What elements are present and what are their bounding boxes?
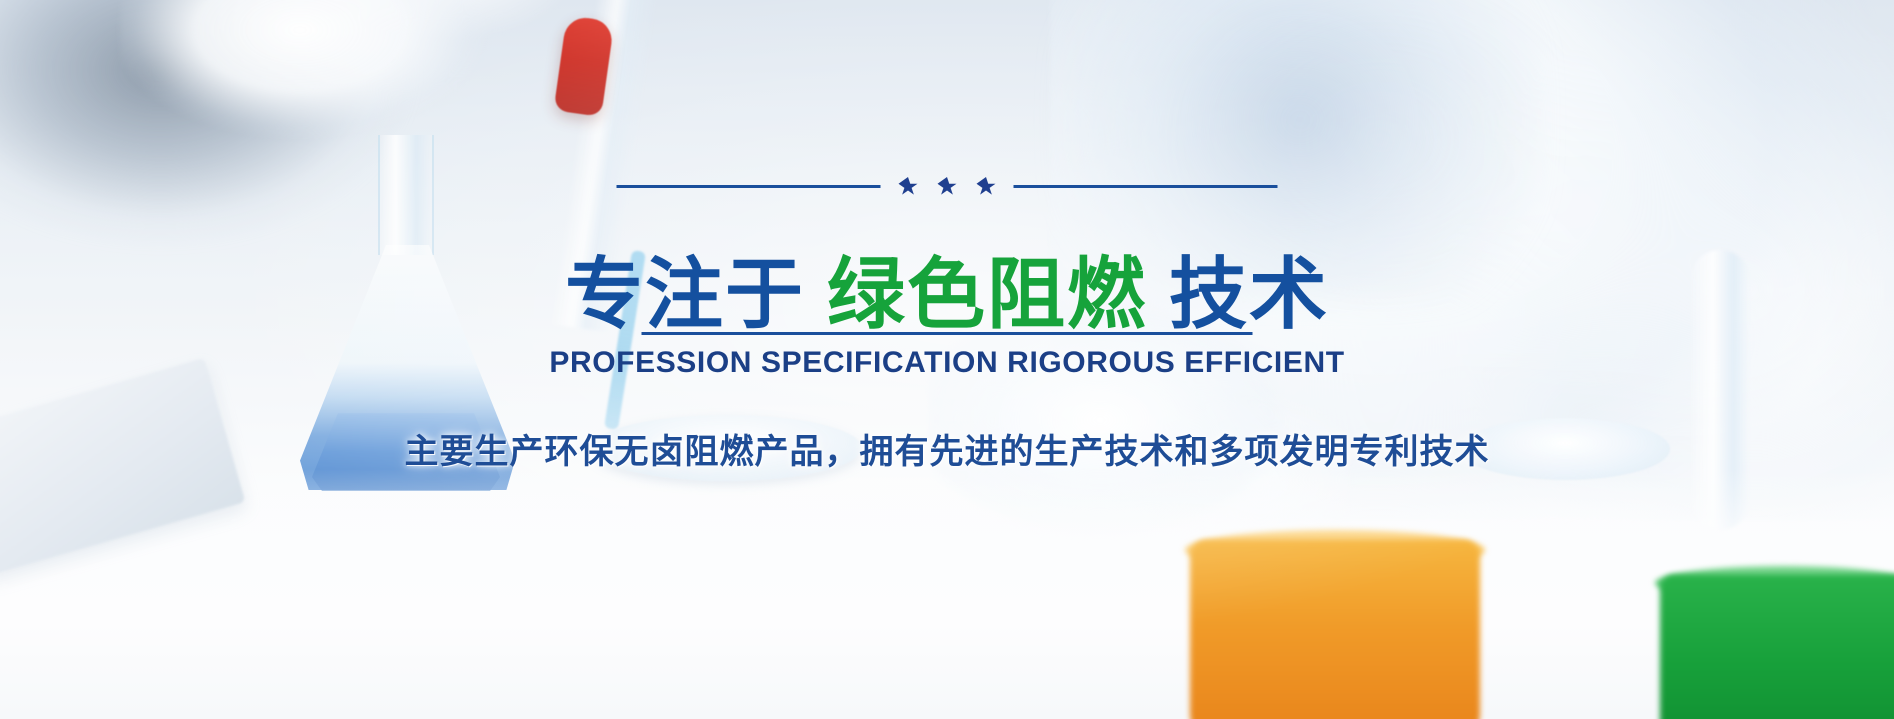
subtitle-divider xyxy=(642,332,1253,335)
star-group xyxy=(881,177,1014,196)
subtitle-english: PROFESSION SPECIFICATION RIGOROUS EFFICI… xyxy=(549,345,1344,381)
headline-segment-3: 技术 xyxy=(1169,250,1329,340)
headline-segment-1: 专注于 xyxy=(565,250,805,340)
star-icon xyxy=(899,177,918,196)
decorative-rule-with-stars xyxy=(617,177,1278,196)
star-icon xyxy=(938,177,957,196)
subtitle-chinese: 主要生产环保无卤阻燃产品，拥有先进的生产技术和多项发明专利技术 xyxy=(405,430,1490,474)
star-icon xyxy=(977,177,996,196)
headline-segment-2: 绿色阻燃 xyxy=(827,250,1147,340)
banner-content: 专注于绿色阻燃技术 PROFESSION SPECIFICATION RIGOR… xyxy=(0,0,1894,719)
hero-banner: 专注于绿色阻燃技术 PROFESSION SPECIFICATION RIGOR… xyxy=(0,0,1894,719)
rule-line-right xyxy=(1014,185,1278,188)
page-title: 专注于绿色阻燃技术 xyxy=(565,252,1329,338)
rule-line-left xyxy=(617,185,881,188)
